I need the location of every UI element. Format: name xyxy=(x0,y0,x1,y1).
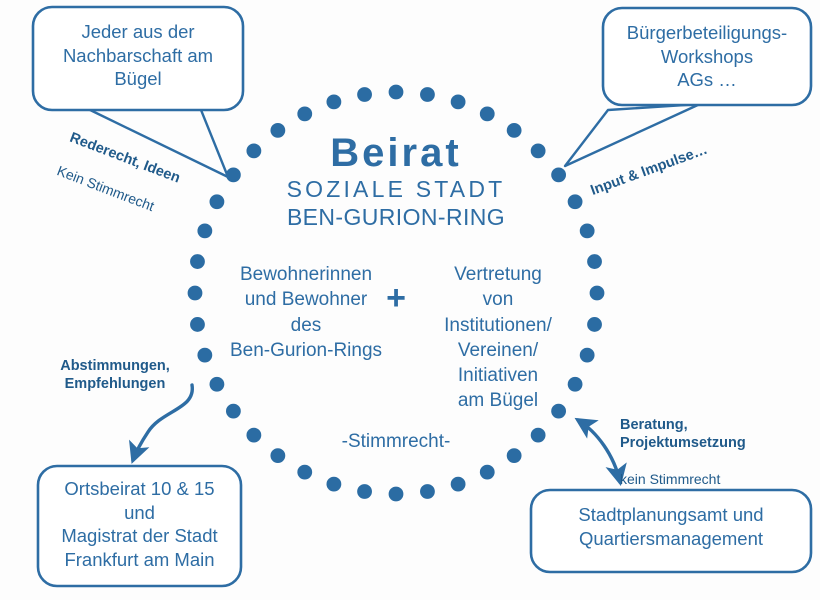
ring-dot xyxy=(190,254,205,269)
ring-dot xyxy=(188,286,203,301)
ring-dot xyxy=(297,107,312,122)
ring-dot xyxy=(451,94,466,109)
ring-dot xyxy=(507,448,522,463)
ring-dot xyxy=(531,428,546,443)
ring-dot xyxy=(531,143,546,158)
arrow-ring-to-ortsbeirat xyxy=(133,385,192,460)
ring-dot xyxy=(197,223,212,238)
ring-dot xyxy=(420,484,435,499)
ring-dot xyxy=(246,143,261,158)
ring-dot xyxy=(480,107,495,122)
ring-dot xyxy=(357,484,372,499)
callout-box-bottom-right[interactable] xyxy=(531,490,811,572)
ring-dot xyxy=(451,477,466,492)
ring-dot xyxy=(420,87,435,102)
ring-dot xyxy=(507,123,522,138)
ring-dot xyxy=(297,465,312,480)
ring-dot xyxy=(226,404,241,419)
ring-dot xyxy=(587,254,602,269)
ring-dot xyxy=(568,194,583,209)
arrow-ring-to-stadtplanungsamt xyxy=(578,420,620,482)
ring-dot xyxy=(190,317,205,332)
ring-dot xyxy=(480,465,495,480)
ring-dot xyxy=(551,404,566,419)
ring-dot xyxy=(326,477,341,492)
ring-dot xyxy=(389,85,404,100)
ring-dot xyxy=(568,377,583,392)
ring-dot xyxy=(210,377,225,392)
callout-box-top-left[interactable] xyxy=(33,7,243,110)
ring-dot xyxy=(357,87,372,102)
ring-dot xyxy=(580,348,595,363)
callout-tail-top-left xyxy=(86,100,228,177)
ring-dot xyxy=(590,286,605,301)
ring-dot xyxy=(197,348,212,363)
ring-dot xyxy=(246,428,261,443)
diagram-vector-layer xyxy=(0,0,820,600)
ring-dot xyxy=(326,94,341,109)
diagram-canvas: Beirat SOZIALE STADT BEN-GURION-RING Bew… xyxy=(0,0,820,600)
callout-box-top-right[interactable] xyxy=(603,8,811,105)
ring-dot xyxy=(270,123,285,138)
ring-dot xyxy=(551,167,566,182)
ring-dot xyxy=(270,448,285,463)
ring-dot xyxy=(210,194,225,209)
callout-tail-top-right xyxy=(565,104,700,166)
ring-dot xyxy=(389,487,404,502)
dotted-ring xyxy=(188,85,605,502)
callout-box-bottom-left[interactable] xyxy=(38,466,241,586)
ring-dot xyxy=(580,223,595,238)
ring-dot xyxy=(587,317,602,332)
